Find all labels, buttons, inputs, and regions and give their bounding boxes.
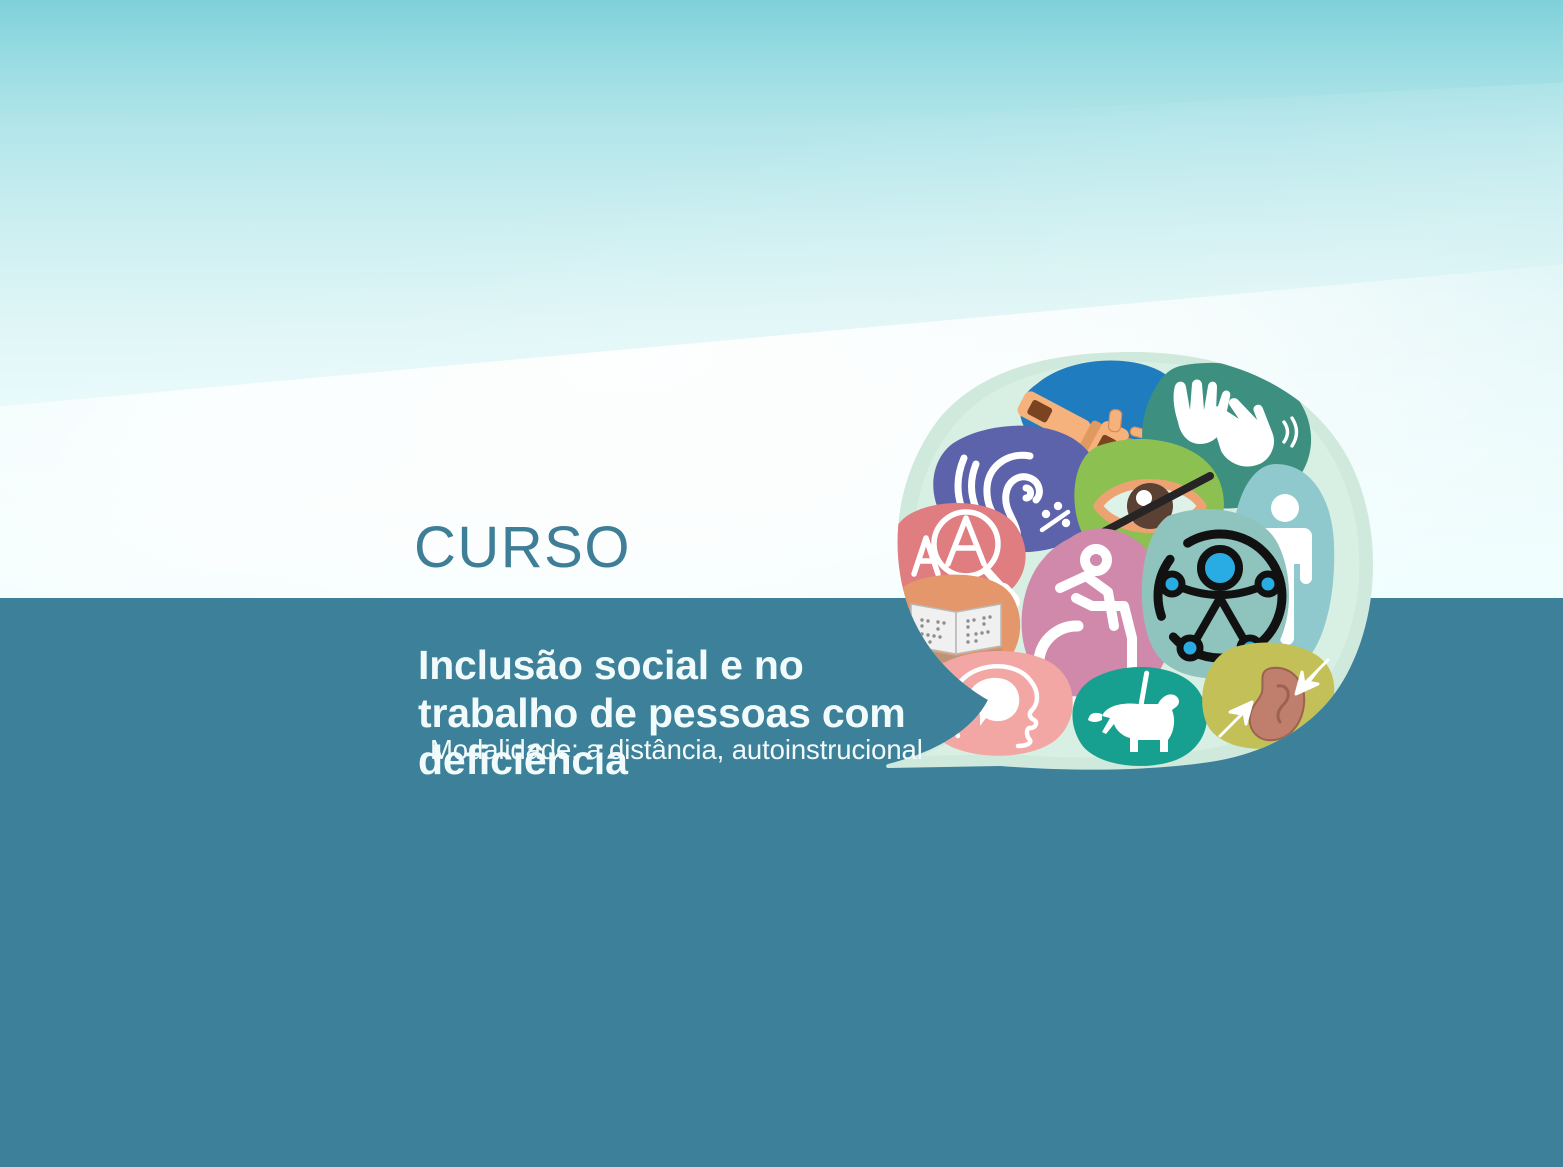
blob-guide-dog [1072,667,1206,766]
blob-cognitive-brain [922,651,1072,756]
slide-canvas: CURSO Inclusão social e no trabalho de p… [0,0,1563,1167]
blob-hearing-aid-ear [1202,643,1334,749]
page-subtitle: Modalidade: a distância, autoinstruciona… [430,733,930,766]
page-kicker: CURSO [414,519,631,577]
accessibility-illustration [880,348,1380,778]
